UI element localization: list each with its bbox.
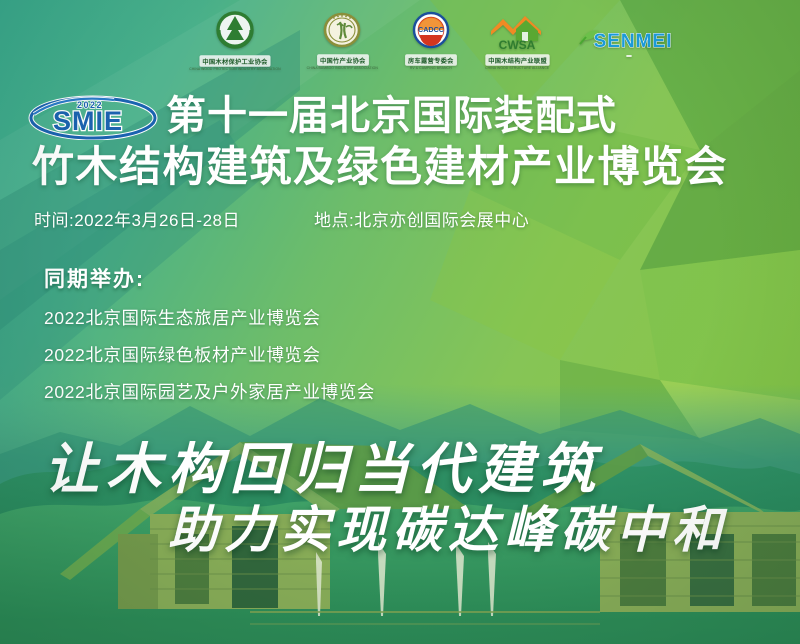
smie-abbr: SMIE (53, 106, 123, 136)
concurrent-events-block: 同期举办: 2022北京国际生态旅居产业博览会 2022北京国际绿色板材产业博览… (44, 263, 375, 416)
logo-label-cn: 房车露营专委会 (405, 54, 456, 66)
logo-label-cn: 中国木结构产业联盟 (485, 54, 550, 66)
concurrent-event-item: 2022北京国际园艺及户外家居产业博览会 (44, 379, 375, 404)
slogan-line2: 助力实现碳达峰碳中和 (168, 490, 728, 562)
svg-text:SENMEI: SENMEI (593, 31, 672, 52)
logo-label-cn: 中国木材保护工业协会 (199, 55, 270, 67)
event-date: 时间:2022年3月26日-28日 (34, 206, 240, 231)
logo-cwsa-wood-structure-alliance: CWSA 中国木结构产业联盟 CHINA WOOD STRUCTURE ALLI… (484, 11, 551, 70)
logo-label-en: CHINA BAMBOO INDUSTRY ASSOCIATION (307, 66, 378, 70)
svg-text:CADCC: CADCC (418, 25, 444, 34)
logo-label-cn: 中国竹产业协会 (317, 54, 368, 66)
logo-senmei: SENMEI (577, 24, 681, 57)
svg-text:CWSA: CWSA (499, 38, 536, 52)
exhibition-poster: 中国木材保护工业协会 CHINA WOOD PROTECTION INDUSTR… (0, 0, 800, 644)
event-venue: 地点:北京亦创国际会展中心 (314, 206, 529, 231)
house-roof-icon: CWSA (485, 11, 549, 53)
concurrent-event-item: 2022北京国际生态旅居产业博览会 (44, 305, 375, 330)
logo-label-en: RV & CAMPING BRANCH (410, 66, 452, 70)
headline-block: 2022 SMIE 第十一届北京国际装配式 竹木结构建筑及绿色建材产业博览会 (0, 92, 800, 189)
logo-china-wood-protection-association: 中国木材保护工业协会 CHINA WOOD PROTECTION INDUSTR… (189, 10, 280, 71)
logo-label-en: CHINA WOOD STRUCTURE ALLIANCE (485, 66, 549, 70)
logo-cadcc-rv-camping-committee: CADCC 房车露营专委会 RV & CAMPING BRANCH (404, 11, 458, 70)
organizer-logo-strip: 中国木材保护工业协会 CHINA WOOD PROTECTION INDUSTR… (0, 0, 800, 80)
pine-tree-shield-icon (212, 10, 258, 54)
leaf-icon: SENMEI (577, 24, 681, 54)
bamboo-seal-icon (319, 11, 365, 53)
logo-label-en: CHINA WOOD PROTECTION INDUSTRY ASSOCIATI… (189, 67, 280, 71)
concurrent-events-title: 同期举办: (44, 263, 375, 293)
logo-label-cn (626, 55, 632, 57)
smie-event-logo: 2022 SMIE (28, 92, 158, 140)
page-title-line2: 竹木结构建筑及绿色建材产业博览会 (28, 146, 772, 189)
event-meta: 时间:2022年3月26日-28日 地点:北京亦创国际会展中心 (34, 206, 772, 231)
logo-bamboo-industry-association: 中国竹产业协会 CHINA BAMBOO INDUSTRY ASSOCIATIO… (307, 11, 378, 70)
concurrent-event-item: 2022北京国际绿色板材产业博览会 (44, 342, 375, 367)
cadcc-badge-icon: CADCC (408, 11, 454, 53)
page-title-line1: 第十一届北京国际装配式 (166, 96, 617, 137)
